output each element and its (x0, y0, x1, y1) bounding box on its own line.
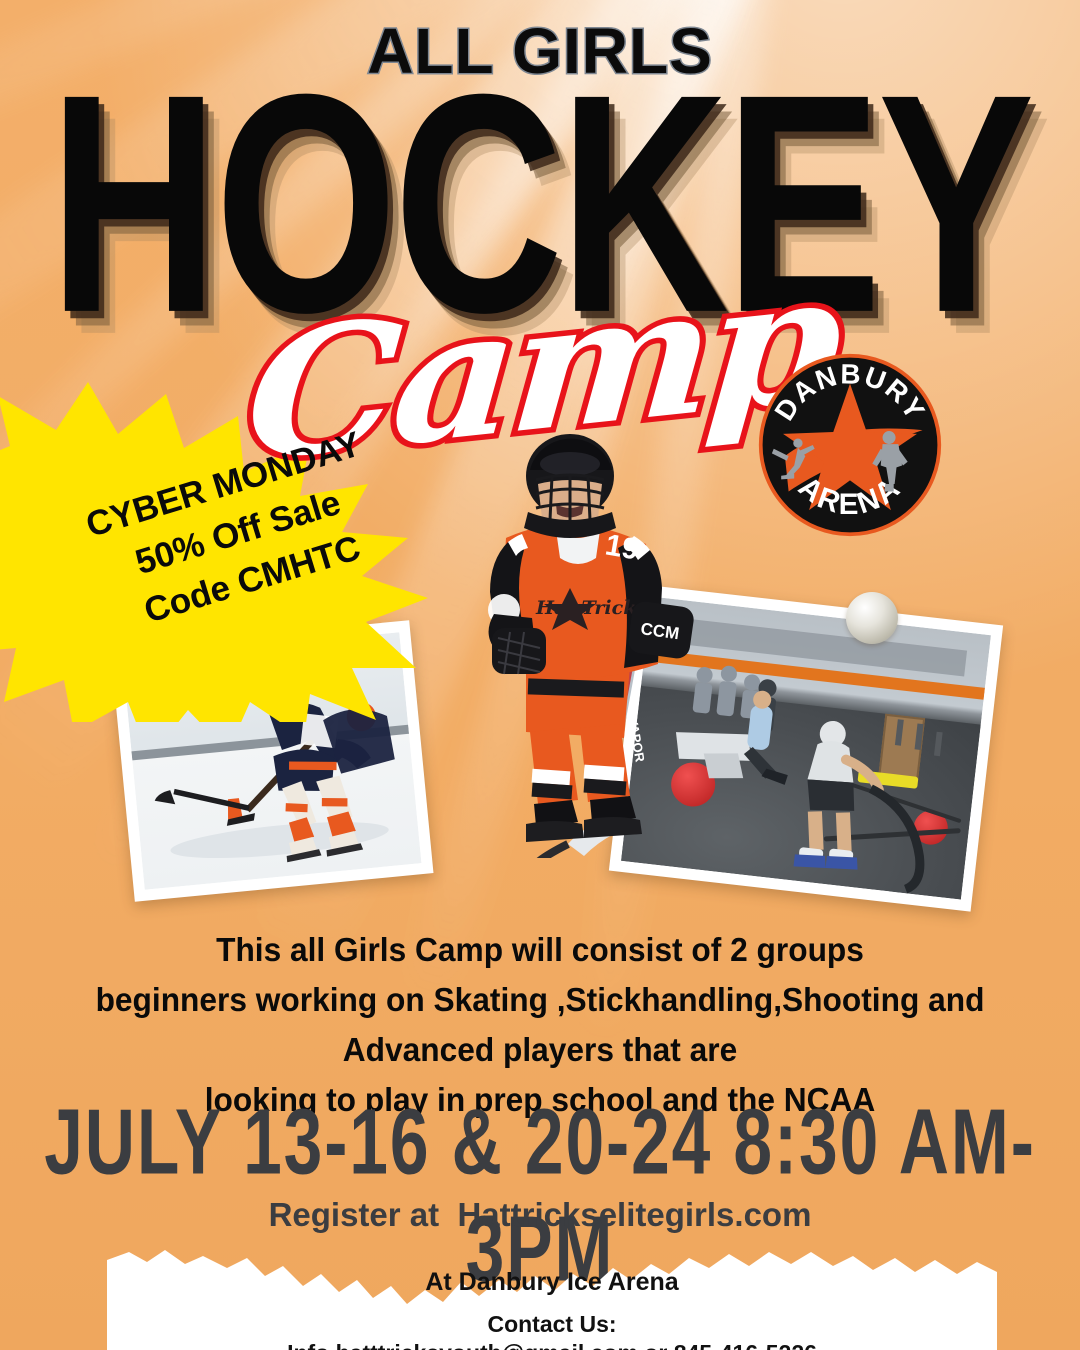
footer-contact-details: Info.hatttricksyouth@gmail.com or 845-41… (107, 1340, 997, 1350)
silver-sphere-decoration (846, 592, 898, 644)
center-hockey-player: VAPOR 19 Hat Tricks CCM (452, 418, 702, 858)
body-copy-line-3: Advanced players that are (22, 1025, 1059, 1075)
eyebrow-title: ALL GIRLS (0, 14, 1080, 88)
footer-venue: At Danbury Ice Arena (107, 1268, 997, 1297)
jersey-number-text: 19 (603, 528, 642, 566)
footer-block: At Danbury Ice Arena Contact Us: Info.ha… (107, 1258, 997, 1350)
poster-canvas: ALL GIRLS HOCKEY Camp CYBER MONDAY 50% O… (0, 0, 1080, 1350)
body-copy-line-2: beginners working on Skating ,Stickhandl… (22, 975, 1059, 1025)
stick-brand-text: VAPOR (625, 716, 648, 764)
danbury-arena-logo: DANBURY ARENA (757, 352, 943, 538)
footer-contact-label: Contact Us: (107, 1311, 997, 1338)
body-copy-line-1: This all Girls Camp will consist of 2 gr… (22, 925, 1059, 975)
register-link[interactable]: Register at Hattrickselitegirls.com (0, 1196, 1080, 1234)
